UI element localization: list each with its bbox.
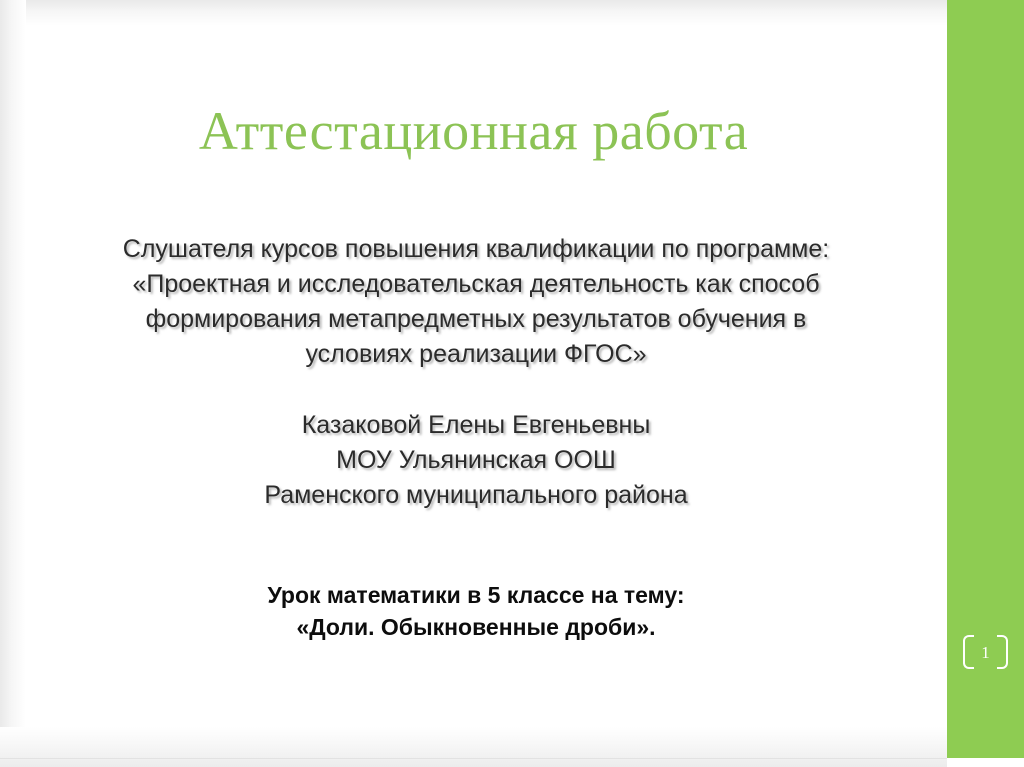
author-line: МОУ Ульянинская ООШ <box>45 443 907 478</box>
author-line: Раменского муниципального района <box>45 478 907 513</box>
lesson-block: Урок математики в 5 классе на тему: «Дол… <box>45 579 907 643</box>
presentation-slide: 1 Аттестационная работа Слушателя курсов… <box>0 0 1024 767</box>
page-title: Аттестационная работа <box>0 100 947 162</box>
program-block: Слушателя курсов повышения квалификации … <box>45 232 907 372</box>
bracket-right-icon <box>997 635 1008 669</box>
bracket-left-icon <box>963 635 974 669</box>
program-line: Слушателя курсов повышения квалификации … <box>45 232 907 267</box>
program-line: условиях реализации ФГОС» <box>45 337 907 372</box>
author-line: Казаковой Елены Евгеньевны <box>45 408 907 443</box>
author-block: Казаковой Елены Евгеньевны МОУ Ульянинск… <box>45 408 907 513</box>
slide-body: Слушателя курсов повышения квалификации … <box>45 232 907 643</box>
lesson-line: Урок математики в 5 классе на тему: <box>45 579 907 611</box>
program-line: формирования метапредметных результатов … <box>45 302 907 337</box>
page-number-badge: 1 <box>947 628 1024 676</box>
slide-edge-shade-top <box>0 0 947 26</box>
program-line: «Проектная и исследовательская деятельно… <box>45 267 907 302</box>
slide-edge-shade-bottom <box>0 727 947 767</box>
page-number-value: 1 <box>974 644 997 661</box>
slide-edge-divider <box>0 758 947 759</box>
lesson-line: «Доли. Обыкновенные дроби». <box>45 611 907 643</box>
